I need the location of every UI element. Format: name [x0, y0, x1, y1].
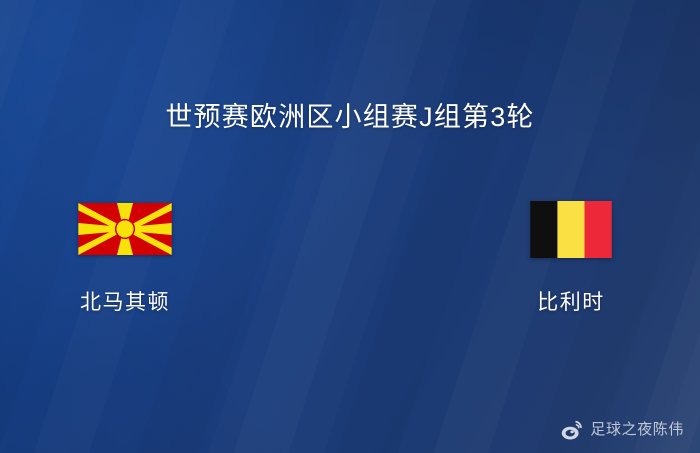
weibo-icon — [561, 419, 583, 441]
match-banner: 世预赛欧洲区小组赛J组第3轮 — [0, 0, 700, 453]
away-team: 比利时 — [461, 198, 681, 315]
page-title: 世预赛欧洲区小组赛J组第3轮 — [0, 101, 700, 133]
watermark-text: 足球之夜陈伟 — [590, 421, 684, 439]
north-macedonia-flag — [78, 203, 172, 255]
home-team-name: 北马其顿 — [15, 291, 235, 315]
away-flag-wrap — [461, 198, 681, 260]
home-team: 北马其顿 — [15, 198, 235, 315]
watermark: 足球之夜陈伟 — [561, 419, 684, 441]
home-flag-wrap — [15, 198, 235, 260]
away-team-name: 比利时 — [461, 291, 681, 315]
belgium-flag — [530, 201, 612, 258]
